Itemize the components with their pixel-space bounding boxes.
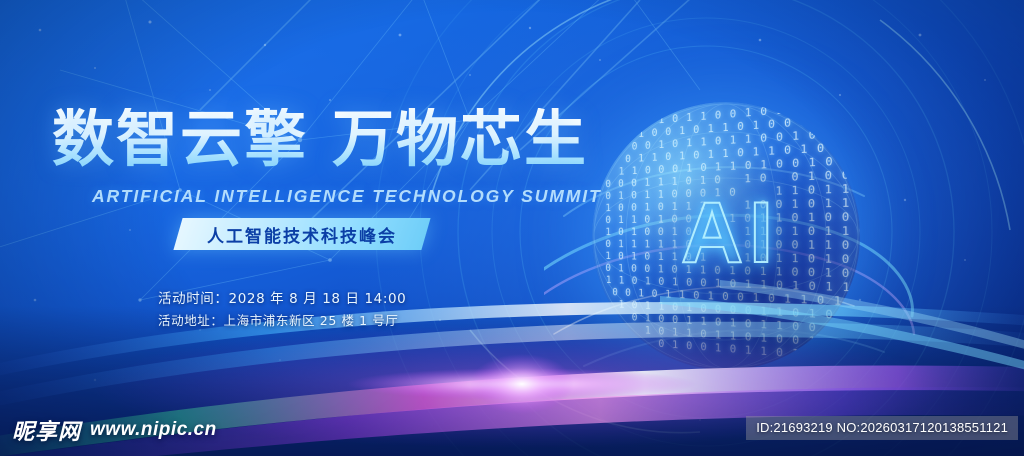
ai-summit-banner: 0 1 0 1 1 0 0 1 0 1 1 01 0 0 1 0 1 1 0 1… — [0, 0, 1024, 456]
event-info: 活动时间：2028 年 8 月 18 日 14:00 活动地址：上海市浦东新区 … — [158, 288, 406, 332]
page-title: 数智云擎万物芯生 — [52, 108, 588, 170]
watermark: 昵享网 www.nipic.cn — [12, 414, 217, 446]
id-badge: ID:21693219 NO:20260317120138551121 — [746, 416, 1018, 440]
ribbon-label: 人工智能技术科技峰会 — [178, 218, 426, 250]
event-time: 活动时间：2028 年 8 月 18 日 14:00 — [158, 288, 406, 310]
ai-label: AI — [650, 184, 810, 283]
headline-left: 数智云擎 — [52, 102, 308, 175]
event-address: 活动地址：上海市浦东新区 25 楼 1 号厅 — [158, 310, 406, 332]
subtitle-english: ARTIFICIAL INTELLIGENCE TECHNOLOGY SUMMI… — [92, 186, 602, 207]
headline-right: 万物芯生 — [332, 102, 588, 175]
watermark-url: www.nipic.cn — [90, 419, 217, 441]
watermark-logo: 昵享网 — [12, 414, 81, 446]
